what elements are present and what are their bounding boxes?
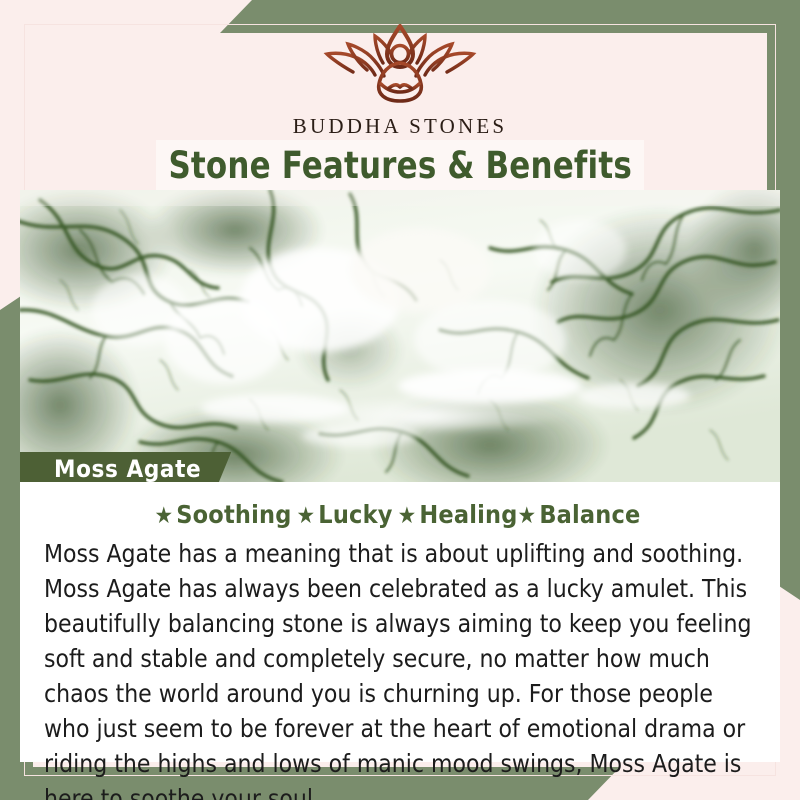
brand-block: BUDDHA STONES — [0, 18, 800, 139]
stone-description: Moss Agate has a meaning that is about u… — [34, 536, 766, 800]
stone-name-label: Moss Agate — [54, 455, 201, 483]
page-title-band: Stone Features & Benefits — [156, 140, 644, 190]
star-icon: ★ — [398, 503, 417, 529]
content-card: ★Soothing★Lucky★Healing★Balance Moss Aga… — [20, 482, 780, 762]
star-icon: ★ — [154, 503, 173, 529]
lotus-meditation-figure-icon — [315, 18, 485, 110]
benefit-item-soothing: Soothing — [173, 500, 296, 529]
benefit-item-healing: Healing — [416, 500, 517, 529]
stone-hero-image — [20, 190, 780, 482]
benefit-item-lucky: Lucky — [315, 500, 397, 529]
star-icon: ★ — [518, 503, 537, 529]
poster-root: BUDDHA STONES Stone Features & Benefits — [0, 0, 800, 800]
benefit-item-balance: Balance — [536, 500, 645, 529]
moss-agate-illustration — [20, 190, 780, 482]
star-icon: ★ — [297, 503, 316, 529]
brand-name: BUDDHA STONES — [0, 114, 800, 139]
stone-name-ribbon: Moss Agate — [20, 452, 231, 486]
page-title: Stone Features & Benefits — [168, 144, 632, 187]
benefits-list: ★Soothing★Lucky★Healing★Balance — [34, 500, 766, 529]
